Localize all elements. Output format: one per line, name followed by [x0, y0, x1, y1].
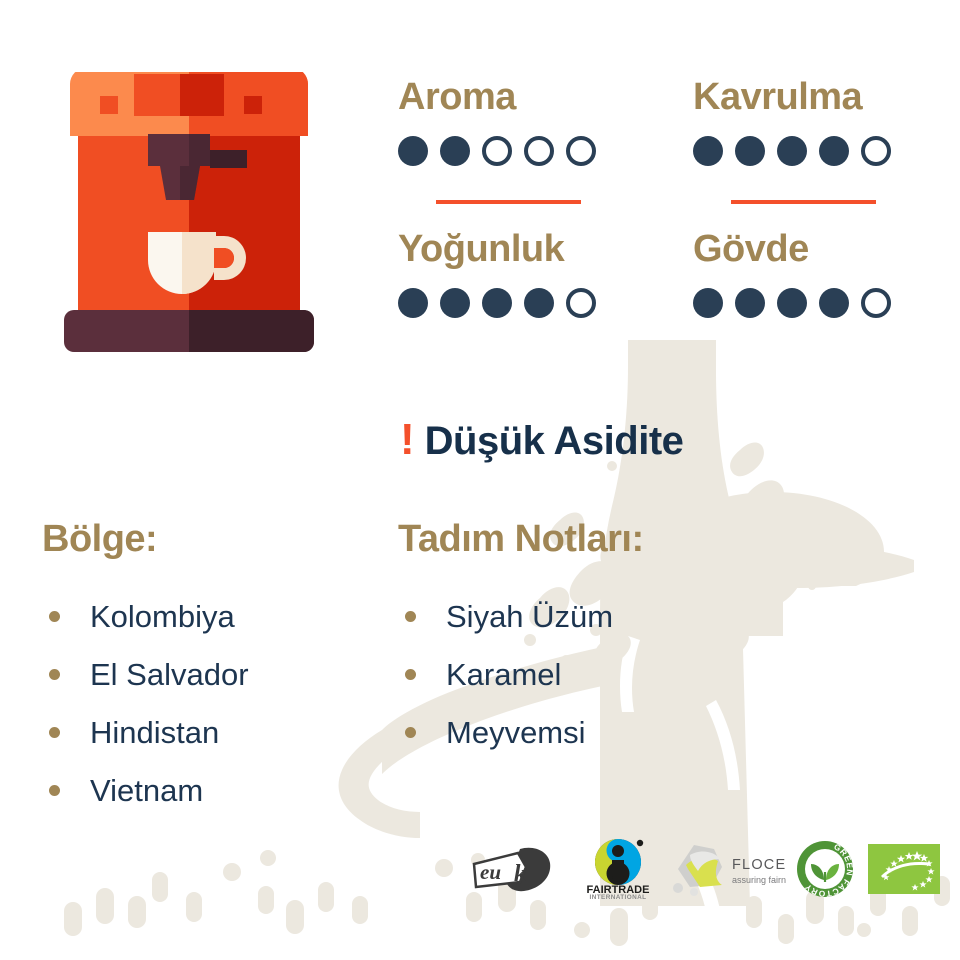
- tasting-note-label: Meyvemsi: [446, 717, 586, 748]
- svg-text:FLOCERT: FLOCERT: [732, 857, 786, 873]
- rating-dot-empty: [861, 288, 891, 318]
- rating-dot-empty: [524, 136, 554, 166]
- flocert-logo: FLOCERT assuring fairness: [668, 839, 786, 899]
- tasting-note-label: Karamel: [446, 659, 561, 690]
- rating-dots-kavrulma: [693, 136, 928, 166]
- rating-dot-filled: [819, 288, 849, 318]
- rating-aroma: Aroma: [398, 78, 693, 166]
- rating-dot-filled: [440, 288, 470, 318]
- ratings-row-bottom: Yoğunluk Gövde: [398, 230, 928, 318]
- section-divider: [731, 200, 876, 204]
- rating-label-govde: Gövde: [693, 230, 928, 270]
- rating-kavrulma: Kavrulma: [693, 78, 928, 166]
- rating-dot-filled: [735, 288, 765, 318]
- rating-govde: Gövde: [693, 230, 928, 318]
- rating-dots-yogunluk: [398, 288, 693, 318]
- tasting-notes-heading: Tadım Notları:: [398, 520, 738, 560]
- svg-text:assuring fairness: assuring fairness: [732, 875, 786, 885]
- rating-label-kavrulma: Kavrulma: [693, 78, 928, 118]
- rating-dot-filled: [524, 288, 554, 318]
- rating-dots-govde: [693, 288, 928, 318]
- exclamation-icon: !: [400, 418, 415, 462]
- divider-cell-right: [693, 200, 928, 204]
- rating-dots-aroma: [398, 136, 693, 166]
- bullet-icon: [405, 669, 416, 680]
- region-item-label: Vietnam: [90, 775, 203, 806]
- rating-dot-filled: [777, 136, 807, 166]
- rating-dot-filled: [693, 288, 723, 318]
- bullet-icon: [405, 727, 416, 738]
- rating-dot-empty: [566, 136, 596, 166]
- bullet-icon: [49, 611, 60, 622]
- fairtrade-international-logo: FAIRTRADE INTERNATIONAL: [586, 838, 650, 900]
- list-item: Karamel: [398, 658, 738, 692]
- ratings-divider-row: [398, 200, 928, 204]
- rating-dot-empty: [566, 288, 596, 318]
- rating-yogunluk: Yoğunluk: [398, 230, 693, 318]
- bullet-icon: [405, 611, 416, 622]
- rating-dot-filled: [398, 288, 428, 318]
- tasting-notes-section: Tadım Notları: Siyah Üzüm Karamel Meyvem…: [398, 520, 738, 774]
- rating-dot-empty: [482, 136, 512, 166]
- rating-label-yogunluk: Yoğunluk: [398, 230, 693, 270]
- list-item: Siyah Üzüm: [398, 600, 738, 634]
- rating-dot-empty: [861, 136, 891, 166]
- ratings-section: Aroma Kavrulma: [398, 78, 928, 318]
- region-list: Kolombiya El Salvador Hindistan Vietnam: [42, 600, 372, 808]
- list-item: El Salvador: [42, 658, 372, 692]
- list-item: Hindistan: [42, 716, 372, 750]
- rating-dot-filled: [482, 288, 512, 318]
- bullet-icon: [49, 727, 60, 738]
- divider-cell-left: [398, 200, 693, 204]
- rating-dot-filled: [398, 136, 428, 166]
- tasting-note-label: Siyah Üzüm: [446, 601, 613, 632]
- list-item: Meyvemsi: [398, 716, 738, 750]
- acidity-label: Düşük Asidite: [425, 421, 684, 461]
- list-item: Kolombiya: [42, 600, 372, 634]
- acidity-callout: ! Düşük Asidite: [400, 418, 683, 462]
- region-item-label: Hindistan: [90, 717, 219, 748]
- rating-label-aroma: Aroma: [398, 78, 693, 118]
- euk-logo: eu k: [468, 843, 560, 895]
- svg-text:INTERNATIONAL: INTERNATIONAL: [590, 894, 647, 900]
- certification-logos: eu k FAIRTRADE INTERNATIONAL FLOCERT ass…: [468, 836, 918, 902]
- region-item-label: Kolombiya: [90, 601, 235, 632]
- list-item: Vietnam: [42, 774, 372, 808]
- bullet-icon: [49, 785, 60, 796]
- section-divider: [436, 200, 581, 204]
- tasting-notes-list: Siyah Üzüm Karamel Meyvemsi: [398, 600, 738, 750]
- rating-dot-filled: [440, 136, 470, 166]
- eu-organic-logo: [868, 844, 940, 894]
- rating-dot-filled: [819, 136, 849, 166]
- rating-dot-filled: [693, 136, 723, 166]
- coffee-product-info-card: Aroma Kavrulma: [0, 0, 960, 960]
- rating-dot-filled: [777, 288, 807, 318]
- svg-text:eu: eu: [480, 860, 501, 884]
- region-heading: Bölge:: [42, 520, 372, 560]
- ratings-row-top: Aroma Kavrulma: [398, 78, 928, 166]
- green-factory-logo: GREEN FACTORY: [796, 840, 854, 898]
- rating-dot-filled: [735, 136, 765, 166]
- region-section: Bölge: Kolombiya El Salvador Hindistan V…: [42, 520, 372, 832]
- svg-text:k: k: [514, 861, 526, 887]
- espresso-machine-icon: [58, 72, 320, 362]
- bullet-icon: [49, 669, 60, 680]
- region-item-label: El Salvador: [90, 659, 249, 690]
